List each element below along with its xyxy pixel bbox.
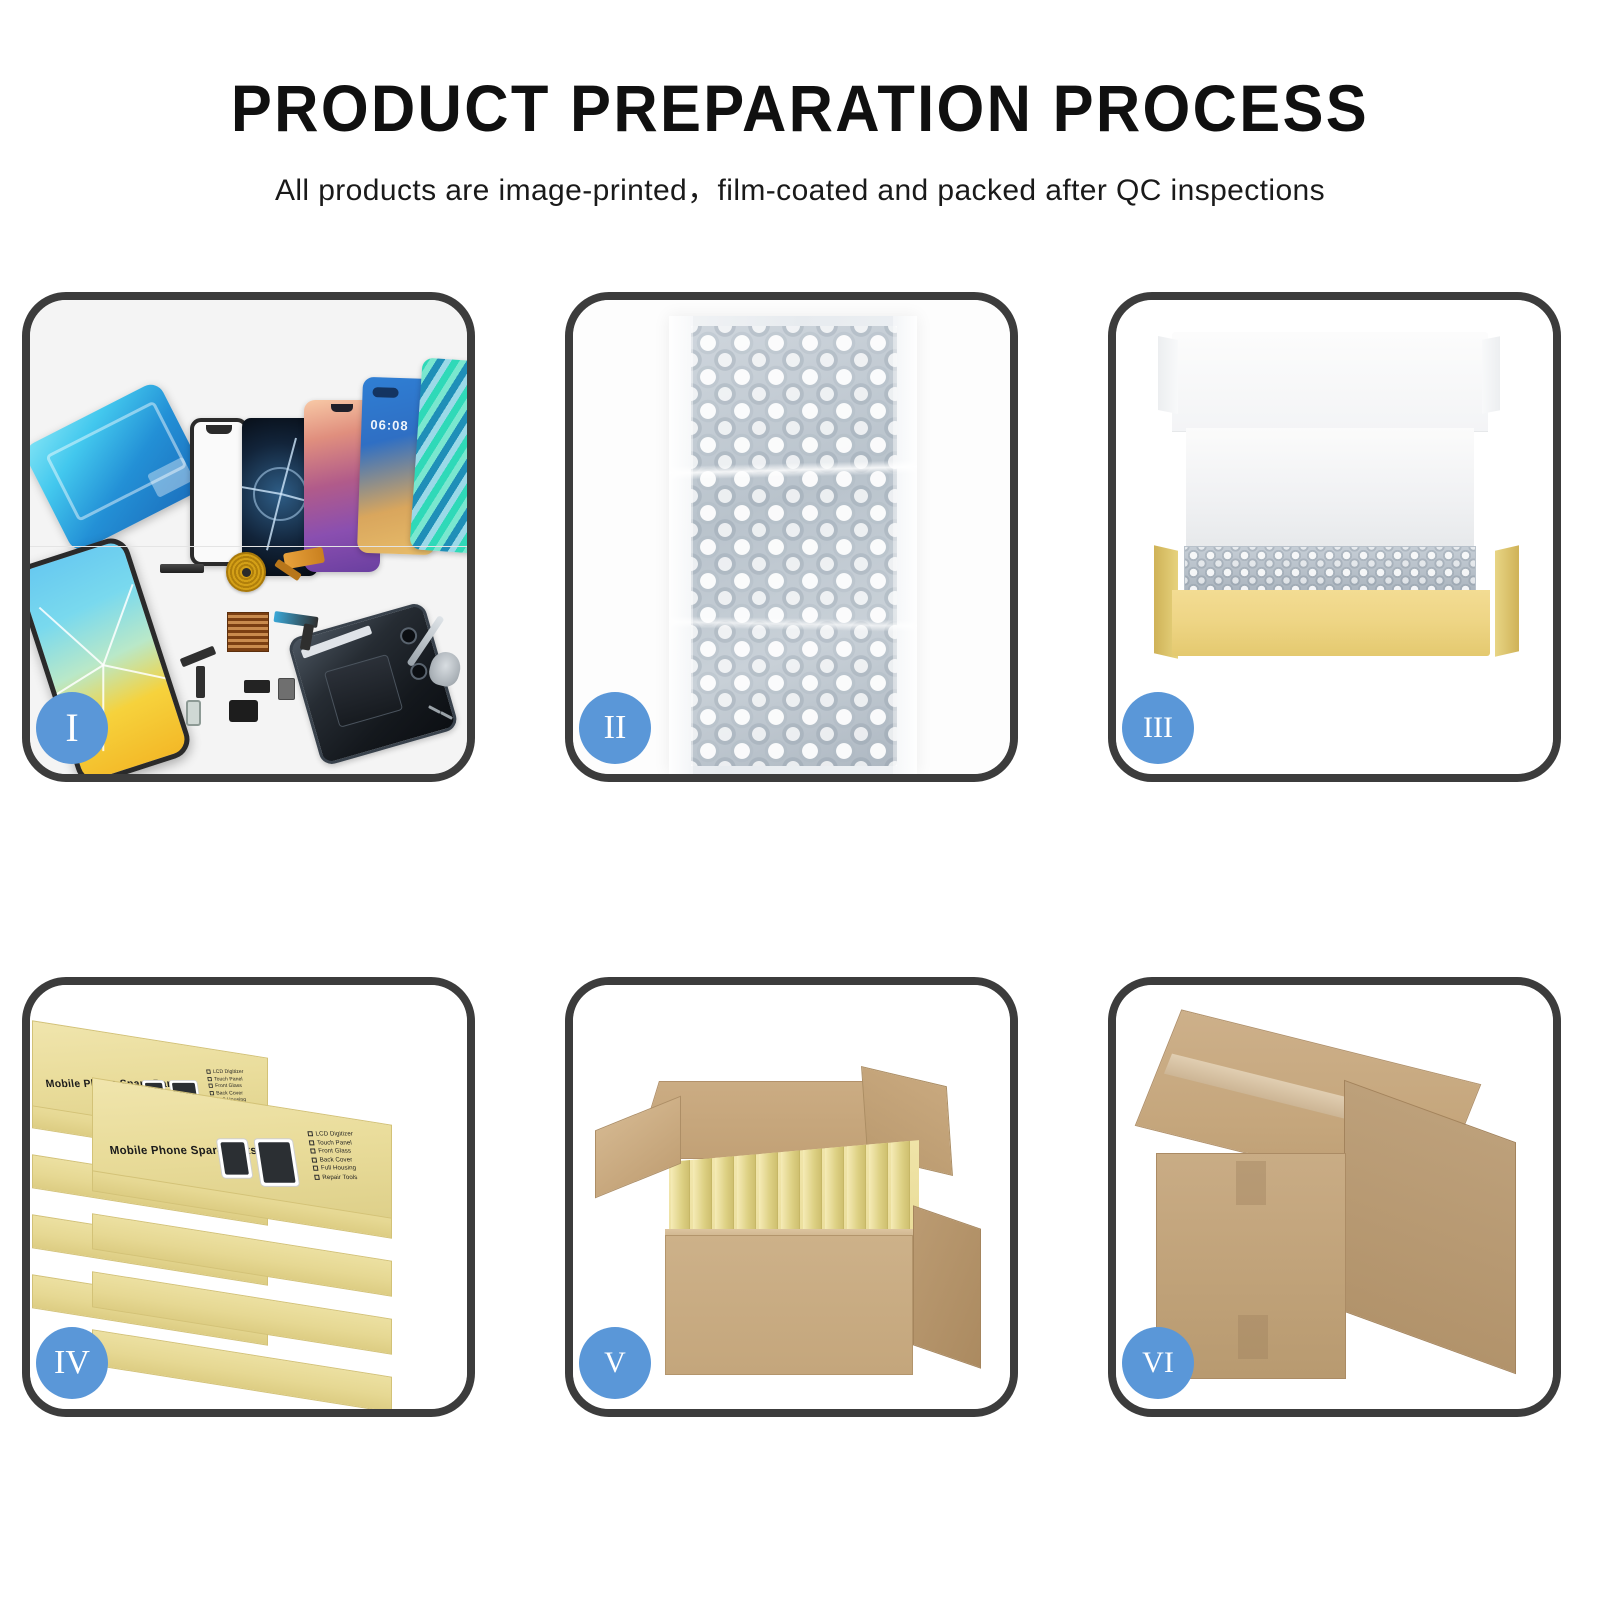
- sealed-carton-right-face-icon: [1344, 1080, 1516, 1375]
- component-block-1-icon: [244, 680, 270, 693]
- blue-lcd-adhesive-frame-icon: [30, 380, 211, 554]
- checklist-item: Full Housing: [321, 1165, 357, 1172]
- checklist-item: LCD Digitizer: [213, 1069, 244, 1075]
- page-title: PRODUCT PREPARATION PROCESS: [56, 74, 1544, 143]
- process-step-panel-5[interactable]: V: [565, 977, 1018, 1417]
- checklist-item: Front Glass: [215, 1083, 243, 1089]
- mailer-lid-icon: [1172, 332, 1488, 432]
- retail-box-phone-images-front: [216, 1138, 301, 1187]
- process-step-panel-3[interactable]: III: [1108, 292, 1561, 782]
- checklist-item: Back Cover: [319, 1156, 353, 1163]
- step-badge-2: II: [579, 692, 651, 764]
- ic-chip-icon: [227, 612, 269, 652]
- speaker-module-icon: [229, 700, 258, 722]
- flex-cable-c-icon: [180, 646, 217, 668]
- flex-cable-d-icon: [196, 666, 205, 698]
- sim-tray-icon: [186, 700, 201, 726]
- checklist-item: Touch Panel: [316, 1139, 352, 1146]
- component-block-2-icon: [278, 678, 295, 700]
- mailer-back-wall-icon: [1186, 428, 1474, 548]
- carton-side-face-icon: [913, 1205, 981, 1368]
- checklist-item: Repair Tools: [322, 1174, 358, 1181]
- process-step-panel-1[interactable]: 06:08: [22, 292, 475, 782]
- retail-box-checklist-front: LCD Digitizer Touch Panel Front Glass Ba…: [307, 1130, 360, 1182]
- checklist-item: Touch Panel: [214, 1076, 243, 1082]
- page-subtitle: All products are image-printed，film-coat…: [0, 165, 1600, 209]
- page-header: PRODUCT PREPARATION PROCESS All products…: [0, 0, 1600, 209]
- step-badge-4: IV: [36, 1327, 108, 1399]
- carton-front-face-icon: [665, 1235, 913, 1375]
- process-step-panel-6[interactable]: VI: [1108, 977, 1561, 1417]
- front-glass-outline-icon: [190, 418, 248, 566]
- step-badge-6: VI: [1122, 1327, 1194, 1399]
- step-badge-5: V: [579, 1327, 651, 1399]
- mailer-right-wall-icon: [1495, 545, 1519, 657]
- process-step-panel-2[interactable]: II: [565, 292, 1018, 782]
- process-steps-grid: 06:08: [22, 292, 1578, 1417]
- process-step-panel-4[interactable]: Mobile Phone Spare Parts LCD Digitizer T…: [22, 977, 475, 1417]
- phone-clock-time: 06:08: [370, 417, 409, 433]
- mailer-front-wall-icon: [1172, 590, 1490, 656]
- step-badge-1: I: [36, 692, 108, 764]
- wireless-charging-coil-icon: [226, 552, 266, 592]
- step-badge-3: III: [1122, 692, 1194, 764]
- checklist-item: LCD Digitizer: [315, 1130, 353, 1137]
- carton-seam-top-icon: [1236, 1161, 1266, 1205]
- carton-seam-bottom-icon: [1238, 1315, 1268, 1359]
- checklist-item: Front Glass: [318, 1148, 352, 1155]
- screws-icon: [428, 706, 458, 722]
- bubble-wrapped-product-icon: [669, 316, 917, 774]
- checklist-item: Back Cover: [216, 1090, 244, 1096]
- connector-bar-icon: [160, 564, 204, 573]
- bubble-wrapped-item-icon: [1184, 546, 1476, 594]
